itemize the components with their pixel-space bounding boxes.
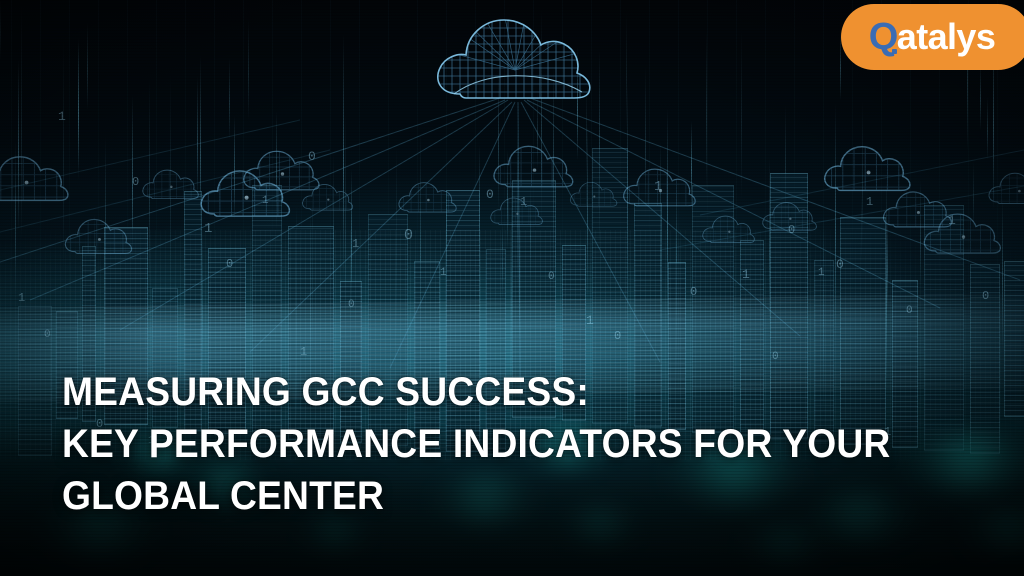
headline: MEASURING GCC SUCCESS: KEY PERFORMANCE I… <box>62 366 882 522</box>
qatalys-logo[interactable]: Q atalys <box>841 4 1024 70</box>
headline-line-1: MEASURING GCC SUCCESS: <box>62 366 825 418</box>
headline-line-3: GLOBAL CENTER <box>62 470 825 522</box>
logo-wordmark-text: atalys <box>897 19 995 55</box>
logo-wordmark: Q atalys <box>869 18 996 56</box>
headline-line-2: KEY PERFORMANCE INDICATORS FOR YOUR <box>62 418 825 470</box>
hero-cloud-icon <box>430 8 600 108</box>
logo-q-mark-icon: Q <box>869 18 898 56</box>
logo-q-dot-icon <box>892 49 897 54</box>
promo-banner: 10101010101010101010101001101010 <box>0 0 1024 576</box>
